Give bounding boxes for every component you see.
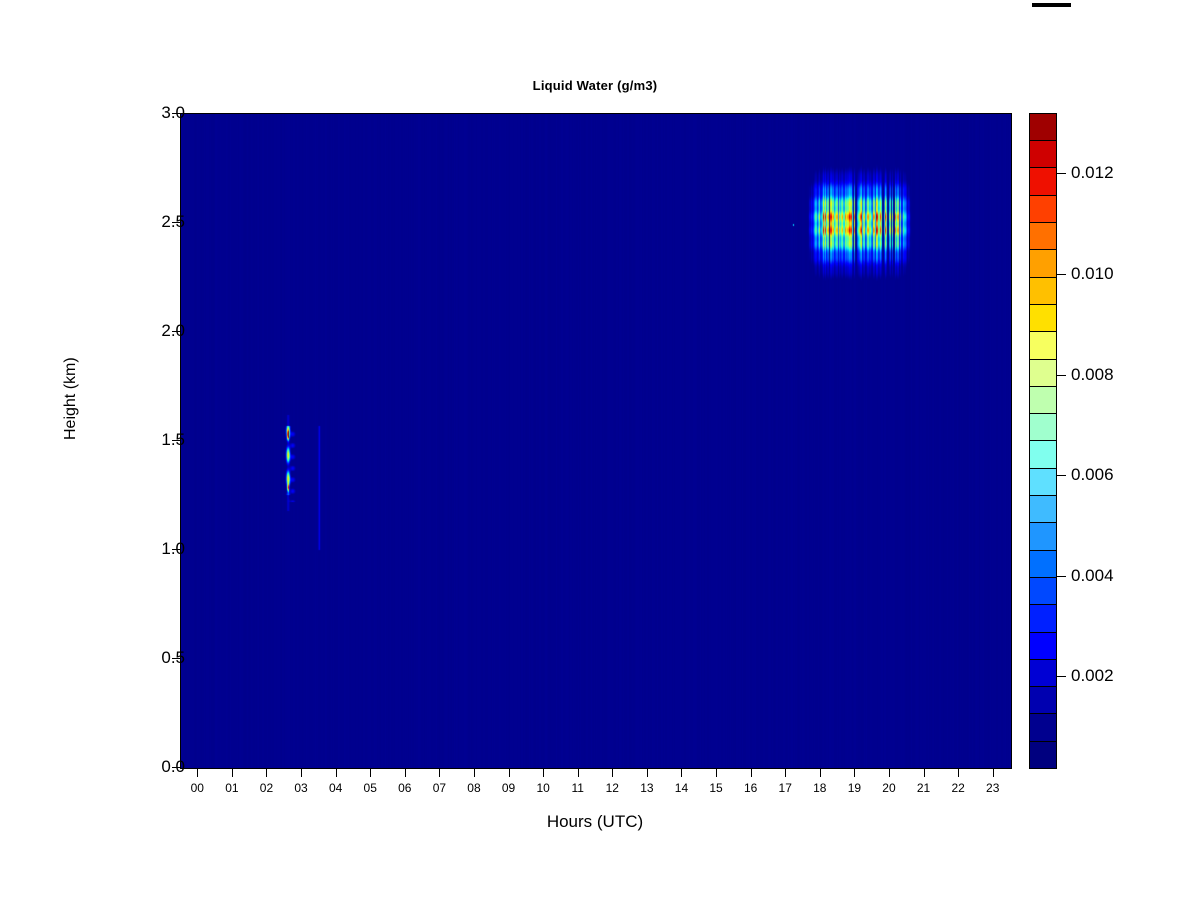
colorbar-segment — [1030, 222, 1056, 249]
x-tick-mark — [405, 768, 406, 777]
x-tick-label: 00 — [191, 781, 204, 795]
colorbar-tick-label: 0.010 — [1071, 264, 1114, 284]
colorbar-tick-label: 0.006 — [1071, 465, 1114, 485]
colorbar — [1029, 113, 1057, 769]
page-title: Liquid Water (g/m3) — [180, 78, 1010, 93]
x-tick-label: 09 — [502, 781, 515, 795]
colorbar-segment — [1030, 713, 1056, 740]
x-tick-mark — [820, 768, 821, 777]
y-tick-label: 3.0 — [161, 103, 185, 123]
y-axis-title: Height (km) — [62, 357, 80, 440]
y-tick-label: 0.5 — [161, 648, 185, 668]
y-tick-label: 1.0 — [161, 539, 185, 559]
colorbar-segment — [1030, 686, 1056, 713]
colorbar-segment — [1030, 632, 1056, 659]
colorbar-segment — [1030, 468, 1056, 495]
colorbar-segment — [1030, 741, 1056, 768]
x-tick-label: 15 — [709, 781, 722, 795]
x-tick-label: 01 — [225, 781, 238, 795]
y-tick-label: 0.0 — [161, 757, 185, 777]
x-tick-mark — [301, 768, 302, 777]
y-tick-label: 2.5 — [161, 212, 185, 232]
colorbar-tick-mark — [1057, 676, 1066, 677]
colorbar-tick-mark — [1057, 576, 1066, 577]
colorbar-segment — [1030, 604, 1056, 631]
x-tick-label: 23 — [986, 781, 999, 795]
colorbar-tick-label: 0.004 — [1071, 566, 1114, 586]
x-tick-label: 18 — [813, 781, 826, 795]
x-tick-mark — [924, 768, 925, 777]
y-tick-label: 1.5 — [161, 430, 185, 450]
x-tick-label: 02 — [260, 781, 273, 795]
heatmap-plot-area — [180, 113, 1012, 769]
x-tick-label: 13 — [640, 781, 653, 795]
x-tick-mark — [336, 768, 337, 777]
colorbar-tick-mark — [1057, 173, 1066, 174]
x-tick-label: 14 — [675, 781, 688, 795]
x-tick-mark — [232, 768, 233, 777]
x-tick-label: 22 — [951, 781, 964, 795]
colorbar-tick-mark — [1057, 375, 1066, 376]
heatmap-canvas — [181, 114, 1011, 768]
x-tick-label: 16 — [744, 781, 757, 795]
colorbar-segment — [1030, 495, 1056, 522]
x-tick-mark — [439, 768, 440, 777]
x-tick-mark — [854, 768, 855, 777]
x-tick-mark — [889, 768, 890, 777]
colorbar-tick-label: 0.012 — [1071, 163, 1114, 183]
colorbar-segment — [1030, 386, 1056, 413]
colorbar-segment — [1030, 659, 1056, 686]
x-tick-mark — [612, 768, 613, 777]
y-tick-label: 2.0 — [161, 321, 185, 341]
x-tick-label: 21 — [917, 781, 930, 795]
colorbar-segment — [1030, 359, 1056, 386]
x-tick-label: 12 — [606, 781, 619, 795]
x-tick-mark — [266, 768, 267, 777]
colorbar-tick-mark — [1057, 475, 1066, 476]
x-tick-label: 19 — [848, 781, 861, 795]
x-tick-mark — [647, 768, 648, 777]
colorbar-segment — [1030, 522, 1056, 549]
x-tick-label: 06 — [398, 781, 411, 795]
top-artifact-bar — [1032, 3, 1071, 7]
x-tick-label: 04 — [329, 781, 342, 795]
figure-canvas: Liquid Water (g/m3) 0.00.51.01.52.02.53.… — [0, 0, 1200, 900]
x-axis-title: Hours (UTC) — [180, 812, 1010, 832]
x-tick-mark — [509, 768, 510, 777]
x-tick-mark — [785, 768, 786, 777]
colorbar-tick-mark — [1057, 274, 1066, 275]
x-tick-mark — [958, 768, 959, 777]
x-tick-mark — [197, 768, 198, 777]
x-tick-label: 17 — [779, 781, 792, 795]
colorbar-segment — [1030, 304, 1056, 331]
x-tick-label: 11 — [571, 781, 583, 795]
colorbar-segment — [1030, 440, 1056, 467]
colorbar-segment — [1030, 277, 1056, 304]
colorbar-segment — [1030, 249, 1056, 276]
colorbar-segment — [1030, 577, 1056, 604]
x-tick-mark — [474, 768, 475, 777]
x-tick-mark — [543, 768, 544, 777]
x-tick-mark — [681, 768, 682, 777]
x-tick-label: 05 — [364, 781, 377, 795]
x-tick-mark — [993, 768, 994, 777]
x-tick-mark — [716, 768, 717, 777]
colorbar-segment — [1030, 140, 1056, 167]
colorbar-segment — [1030, 114, 1056, 140]
x-tick-label: 20 — [882, 781, 895, 795]
x-tick-label: 10 — [536, 781, 549, 795]
colorbar-segment — [1030, 167, 1056, 194]
colorbar-segment — [1030, 550, 1056, 577]
x-tick-mark — [370, 768, 371, 777]
x-tick-mark — [751, 768, 752, 777]
colorbar-tick-label: 0.008 — [1071, 365, 1114, 385]
colorbar-segment — [1030, 195, 1056, 222]
x-tick-label: 03 — [294, 781, 307, 795]
x-tick-label: 07 — [433, 781, 446, 795]
x-tick-mark — [578, 768, 579, 777]
colorbar-tick-label: 0.002 — [1071, 666, 1114, 686]
x-tick-label: 08 — [467, 781, 480, 795]
colorbar-segment — [1030, 413, 1056, 440]
colorbar-segment — [1030, 331, 1056, 358]
